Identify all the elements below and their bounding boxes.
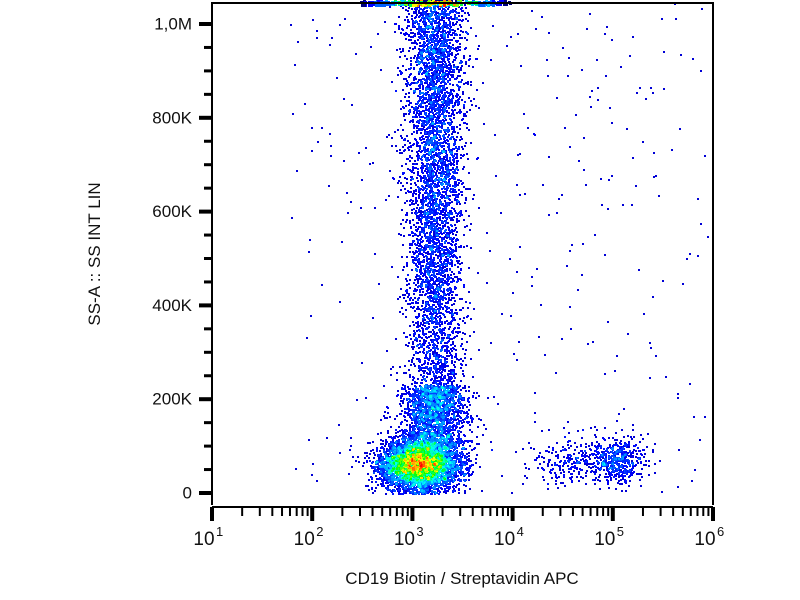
y-axis-tick-label: 0 [183, 483, 192, 502]
density-point-group [427, 477, 429, 479]
y-axis-tick-label: 400K [152, 296, 192, 315]
density-point-group [425, 454, 427, 456]
density-point-group [423, 464, 425, 466]
y-axis-tick-label: 1,0M [154, 14, 192, 33]
density-point-group [420, 465, 422, 467]
scatter-plot-canvas: 0200K400K600K800K1,0M 101102103104105106… [0, 0, 800, 600]
density-point-group [420, 462, 422, 464]
y-axis-tick-label: 600K [152, 202, 192, 221]
x-axis-tick-base: 10 [294, 529, 315, 550]
flow-cytometry-figure: 0200K400K600K800K1,0M 101102103104105106… [0, 0, 800, 600]
density-point-group [427, 448, 429, 450]
x-axis-tick-exponent: 2 [316, 524, 323, 539]
x-axis-tick-exponent: 5 [617, 524, 624, 539]
x-axis-title: CD19 Biotin / Streptavidin APC [345, 569, 578, 588]
x-axis-tick-base: 10 [193, 529, 214, 550]
x-axis-tick-base: 10 [494, 529, 515, 550]
density-point-group [413, 460, 415, 462]
x-axis-tick-base: 10 [394, 529, 415, 550]
x-axis-tick-exponent: 1 [216, 524, 223, 539]
plot-background [0, 0, 800, 600]
y-axis-tick-label: 200K [152, 390, 192, 409]
x-axis-tick-base: 10 [594, 529, 615, 550]
density-point-group [421, 477, 423, 479]
x-axis-tick-exponent: 4 [517, 524, 524, 539]
y-axis-title: SS-A :: SS INT LIN [85, 182, 104, 325]
x-axis-tick-exponent: 3 [416, 524, 423, 539]
density-point-group [413, 468, 415, 470]
y-axis-tick-label: 800K [152, 108, 192, 127]
x-axis-tick-base: 10 [694, 529, 715, 550]
x-axis-tick-exponent: 6 [717, 524, 724, 539]
density-point-group [407, 438, 409, 440]
